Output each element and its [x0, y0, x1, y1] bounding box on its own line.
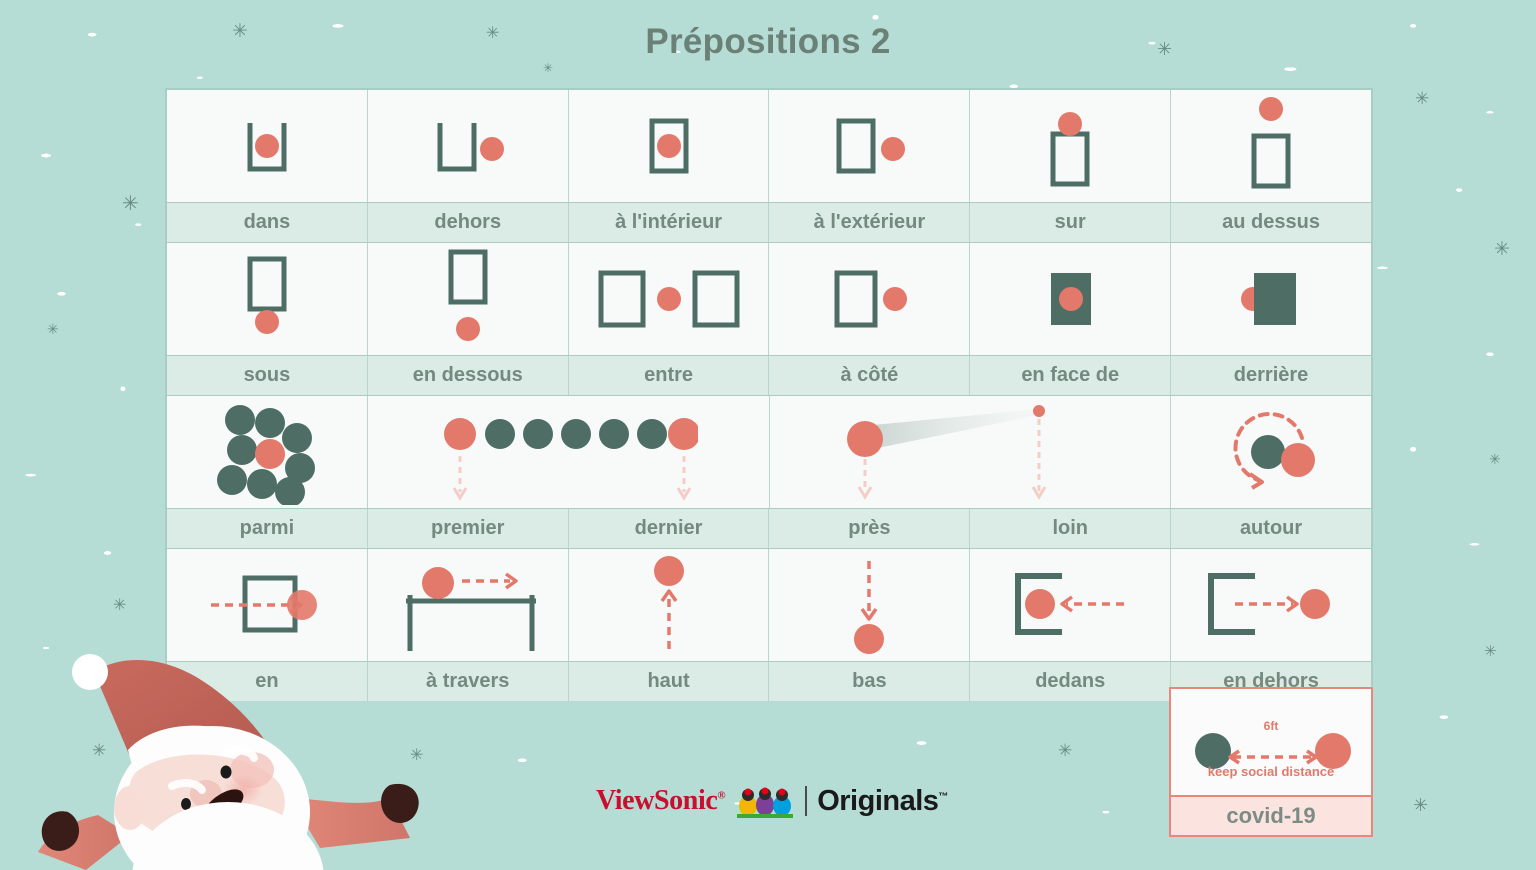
label-dehors: dehors: [368, 203, 569, 242]
label-a-l-interieur: à l'intérieur: [569, 203, 770, 242]
dot-outside-bracket-right-arrow-icon: [1201, 560, 1341, 650]
label-en-face-de: en face de: [970, 356, 1171, 395]
up-arrow-to-dot-icon: [629, 553, 709, 658]
dot-inside-bracket-left-arrow-icon: [1000, 560, 1140, 650]
label-dans: dans: [167, 203, 368, 242]
label-bas: bas: [769, 662, 970, 701]
label-haut: haut: [569, 662, 770, 701]
label-au-dessus: au dessus: [1171, 203, 1371, 242]
label-sur: sur: [970, 203, 1171, 242]
illustration-strip: [167, 396, 1371, 508]
label-entre: entre: [569, 356, 770, 395]
covid-social-distance-badge: 6ft keep social distance covid-19: [1169, 687, 1373, 837]
label-en-dessous: en dessous: [368, 356, 569, 395]
dashed-circle-around-dot-icon: [1206, 402, 1336, 502]
dot-in-front-of-filled-square-icon: [1025, 259, 1115, 339]
snowflake-icon: ✳: [122, 194, 139, 214]
cell-sous[interactable]: [167, 243, 368, 355]
label-dedans: dedans: [970, 662, 1171, 701]
grid-row: sous en dessous entre à côté en face de …: [167, 243, 1371, 396]
label-parmi: parmi: [167, 509, 368, 548]
registered-mark: ®: [717, 790, 725, 802]
logo-divider: [805, 786, 807, 816]
label-strip: sous en dessous entre à côté en face de …: [167, 355, 1371, 395]
viewsonic-originals-logo: ViewSonic® Originals™: [596, 784, 948, 818]
cell-en-face-de[interactable]: [970, 243, 1171, 355]
dot-above-square-icon: [1226, 92, 1316, 200]
cell-en-dessous[interactable]: [368, 243, 569, 355]
cell-a-cote[interactable]: [769, 243, 970, 355]
snowflake-icon: ✳: [113, 598, 126, 614]
grid-row: parmi premier dernier près loin autour: [167, 396, 1371, 549]
santa-hat-pompom: [72, 654, 108, 690]
cell-autour[interactable]: [1171, 396, 1371, 508]
snowflake-icon: ✳: [1494, 240, 1510, 259]
cell-a-l-exterieur[interactable]: [769, 90, 970, 202]
dot-on-top-of-square-icon: [1025, 96, 1115, 196]
cell-derriere[interactable]: [1171, 243, 1371, 355]
dot-inside-u-shape-icon: [222, 101, 312, 191]
label-premier: premier: [368, 509, 569, 548]
label-sous: sous: [167, 356, 368, 395]
down-arrow-to-dot-icon: [829, 553, 909, 658]
cell-pres-loin[interactable]: [770, 396, 1171, 508]
illustration-strip: [167, 90, 1371, 202]
label-strip: parmi premier dernier près loin autour: [167, 508, 1371, 548]
three-finches-icon: [735, 784, 795, 818]
viewsonic-wordmark: ViewSonic®: [596, 785, 725, 817]
cell-au-dessus[interactable]: [1171, 90, 1371, 202]
cell-haut[interactable]: [569, 549, 770, 661]
santa-claus-illustration: [0, 630, 460, 870]
dot-inside-square-icon: [624, 101, 714, 191]
covid-footer-label: covid-19: [1171, 795, 1371, 835]
social-distance-illustration: 6ft keep social distance: [1171, 689, 1371, 795]
cell-dans[interactable]: [167, 90, 368, 202]
cell-dedans[interactable]: [970, 549, 1171, 661]
cell-entre[interactable]: [569, 243, 770, 355]
label-a-cote: à côté: [769, 356, 970, 395]
label-autour: autour: [1171, 509, 1371, 548]
dot-beside-square-icon: [819, 259, 919, 339]
label-strip: dans dehors à l'intérieur à l'extérieur …: [167, 202, 1371, 242]
snowflake-icon: ✳: [543, 62, 553, 74]
dot-behind-filled-square-icon: [1226, 259, 1316, 339]
snowflake-icon: ✳: [1413, 796, 1428, 814]
cell-premier-dernier[interactable]: [368, 396, 769, 508]
label-loin: loin: [970, 509, 1171, 548]
coral-dot-among-dark-dots-icon: [212, 400, 322, 505]
illustration-strip: [167, 243, 1371, 355]
label-dernier: dernier: [569, 509, 770, 548]
dot-below-square-icon: [423, 244, 513, 354]
dot-under-square-icon: [222, 247, 312, 351]
snowflake-icon: ✳: [1484, 644, 1497, 659]
label-derriere: derrière: [1171, 356, 1371, 395]
cell-bas[interactable]: [769, 549, 970, 661]
originals-text: Originals: [817, 785, 938, 817]
grid-row: dans dehors à l'intérieur à l'extérieur …: [167, 90, 1371, 243]
snowflake-icon: ✳: [47, 322, 59, 336]
originals-wordmark: Originals™: [817, 785, 948, 818]
social-distance-caption: keep social distance: [1171, 764, 1371, 779]
santa-left-eye: [181, 798, 191, 810]
dot-between-two-squares-icon: [589, 259, 749, 339]
snowflake-icon: ✳: [1489, 452, 1501, 466]
cell-dehors[interactable]: [368, 90, 569, 202]
viewsonic-brand-text: ViewSonic: [596, 785, 717, 816]
label-pres: près: [769, 509, 970, 548]
cell-parmi[interactable]: [167, 396, 368, 508]
label-a-l-exterieur: à l'extérieur: [769, 203, 970, 242]
cell-sur[interactable]: [970, 90, 1171, 202]
snowflake-icon: ✳: [1415, 90, 1429, 107]
santa-right-eye: [221, 766, 232, 779]
near-far-perspective-icon: [825, 397, 1115, 507]
cell-en-dehors[interactable]: [1171, 549, 1371, 661]
cell-a-l-interieur[interactable]: [569, 90, 770, 202]
dot-outside-u-shape-icon: [418, 101, 518, 191]
page-title: Prépositions 2: [0, 22, 1536, 62]
dot-right-of-square-icon: [819, 101, 919, 191]
snowflake-icon: ✳: [1058, 742, 1072, 759]
row-of-dots-first-last-icon: [438, 400, 698, 505]
prepositions-grid: dans dehors à l'intérieur à l'extérieur …: [165, 88, 1373, 686]
santa-left-ear: [114, 786, 146, 830]
trademark-mark: ™: [938, 791, 948, 802]
